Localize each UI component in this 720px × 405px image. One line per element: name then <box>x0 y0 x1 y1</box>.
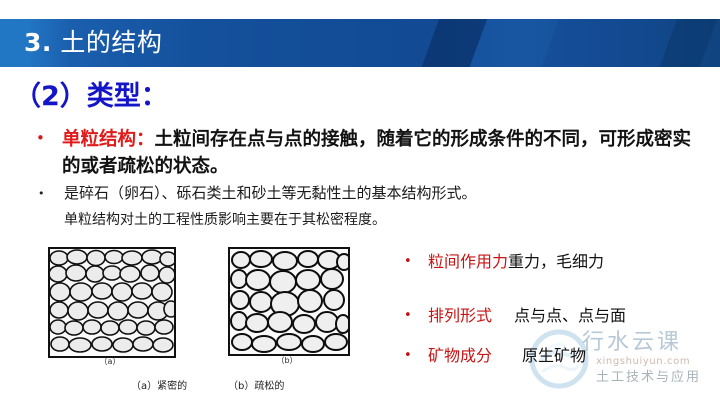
property-2-value: 点与点、点与面 <box>514 306 626 325</box>
property-1-value: 重力，毛细力 <box>508 252 604 271</box>
section-heading: （2）类型： <box>14 80 168 114</box>
bullet-1-text: 单粒结构：土粒间存在点与点的接触，随着它的形成条件的不同，可形成密实的或者疏松的… <box>62 126 696 180</box>
note-line: 单粒结构对土的工程性质影响主要在于其松密程度。 <box>64 211 684 230</box>
slide-canvas: 3. 土的结构 （2）类型： • 单粒结构：土粒间存在点与点的接触，随着它的形成… <box>0 0 720 405</box>
property-item-3: • 矿物成分原生矿物 <box>404 343 720 371</box>
loose-packing-illustration <box>230 249 348 354</box>
bullet-marker-icon: • <box>36 131 45 146</box>
property-3-key: 矿物成分 <box>428 343 494 368</box>
property-2-key: 排列形式 <box>428 303 494 328</box>
bullet-1-emphasis: 单粒结构： <box>62 129 155 150</box>
bullet-marker-icon: • <box>404 349 412 362</box>
bullet-2-text: 是碎石（卵石）、砾石类土和砂土等无黏性土的基本结构形式。 <box>64 183 696 203</box>
bullet-item-1: • 单粒结构：土粒间存在点与点的接触，随着它的形成条件的不同，可形成密实的或者疏… <box>36 126 696 180</box>
figure-a-caption: （a）紧密的 <box>131 380 187 393</box>
property-1-body: 粒间作用力重力，毛细力 <box>428 249 720 274</box>
bullet-marker-icon: • <box>404 255 412 268</box>
banner-stripe-edge <box>652 19 720 67</box>
page-title-text: 土的结构 <box>60 28 162 57</box>
bullet-marker-icon: • <box>404 309 412 322</box>
property-2-body: 排列形式点与点、点与面 <box>428 303 720 328</box>
property-item-1: • 粒间作用力重力，毛细力 <box>404 249 720 277</box>
bullet-1-body: 土粒间存在点与点的接触，随着它的形成条件的不同，可形成密实的或者疏松的状态。 <box>62 129 691 177</box>
figure-b-caption: （b）疏松的 <box>228 380 284 393</box>
property-3-value: 原生矿物 <box>522 346 586 365</box>
figure-b-sublabel: （b） <box>228 356 346 366</box>
property-1-key: 粒间作用力 <box>428 249 508 274</box>
bullet-marker-icon: • <box>38 188 45 199</box>
banner-stripe-light <box>462 19 567 67</box>
dense-packing-illustration <box>50 249 174 356</box>
property-item-2: • 排列形式点与点、点与面 <box>404 303 720 331</box>
banner-stripe-dark <box>414 19 495 67</box>
watermark-subtitle: 土工技术与应用 <box>596 370 701 386</box>
figure-dense-packing <box>48 247 176 358</box>
property-list: • 粒间作用力重力，毛细力 • 排列形式点与点、点与面 • 矿物成分原生矿物 <box>404 249 720 371</box>
bullet-item-2: • 是碎石（卵石）、砾石类土和砂土等无黏性土的基本结构形式。 <box>36 183 696 203</box>
page-title-number: 3. <box>24 28 52 57</box>
figure-loose-packing <box>228 247 350 356</box>
page-title: 3. 土的结构 <box>24 24 162 62</box>
property-3-body: 矿物成分原生矿物 <box>428 343 720 368</box>
figure-a-sublabel: （a） <box>48 357 172 367</box>
